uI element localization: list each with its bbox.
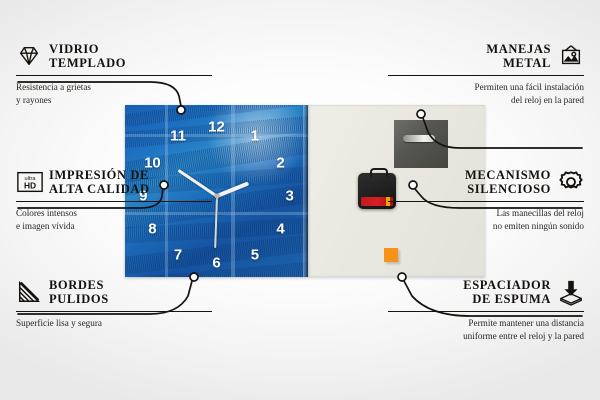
clock-number: 1 <box>251 128 259 143</box>
divider <box>16 75 212 77</box>
title-line-2: METAL <box>388 56 551 70</box>
gear-icon <box>558 169 584 195</box>
divider <box>16 201 212 203</box>
desc-line-1: Colores intensos <box>16 207 212 219</box>
feature-description: Las manecillas del reloj no emiten ningú… <box>388 207 584 232</box>
title-line-2: DE ESPUMA <box>388 292 551 306</box>
desc-line-2: no emiten ningún sonido <box>388 220 584 232</box>
feature-title: VIDRIO TEMPLADO <box>49 42 126 71</box>
clock-number: 7 <box>174 247 182 262</box>
desc-line-1: Permiten una fácil instalación <box>388 81 584 93</box>
desc-line-2: e imagen vívida <box>16 220 212 232</box>
divider <box>388 75 584 77</box>
feature-hd-print: ultra HD IMPRESIÓN DE ALTA CALIDAD Color… <box>16 168 212 232</box>
divider <box>16 311 212 313</box>
clock-number: 6 <box>212 256 220 271</box>
desc-line-2: del reloj en la pared <box>388 94 584 106</box>
divider <box>388 311 584 313</box>
foam-spacer-block <box>384 248 398 262</box>
feature-description: Resistencia a grietas y rayones <box>16 81 212 106</box>
feature-description: Superficie lisa y segura <box>16 317 212 329</box>
title-line-1: ESPACIADOR <box>388 278 551 292</box>
title-line-1: MANEJAS <box>388 42 551 56</box>
feature-title: IMPRESIÓN DE ALTA CALIDAD <box>49 168 150 197</box>
arrow-down-pad-icon <box>558 279 584 305</box>
clock-center-pin <box>214 194 219 199</box>
desc-line-1: Resistencia a grietas <box>16 81 212 93</box>
feature-tempered-glass: VIDRIO TEMPLADO Resistencia a grietas y … <box>16 42 212 106</box>
picture-frame-icon <box>558 43 584 69</box>
infographic-canvas: 12 1 2 3 4 5 6 7 8 9 10 11 <box>0 0 600 400</box>
feature-title: ESPACIADOR DE ESPUMA <box>388 278 551 307</box>
feature-metal-handles: MANEJAS METAL Permiten una fácil instala… <box>388 42 584 106</box>
clock-number: 11 <box>170 128 186 143</box>
divider <box>388 201 584 203</box>
title-line-1: VIDRIO <box>49 42 126 56</box>
feature-polished-edges: BORDES PULIDOS Superficie lisa y segura <box>16 278 212 330</box>
clock-number: 2 <box>276 156 284 171</box>
svg-text:HD: HD <box>24 181 36 191</box>
title-line-2: TEMPLADO <box>49 56 126 70</box>
title-line-1: IMPRESIÓN DE <box>49 168 150 182</box>
desc-line-2: uniforme entre el reloj y la pared <box>388 330 584 342</box>
title-line-2: PULIDOS <box>49 292 109 306</box>
clock-number: 4 <box>276 221 284 236</box>
feature-title: MANEJAS METAL <box>388 42 551 71</box>
feature-title: MECANISMO SILENCIOSO <box>388 168 551 197</box>
desc-line-2: y rayones <box>16 94 212 106</box>
title-line-2: ALTA CALIDAD <box>49 182 150 196</box>
desc-line-1: Permite mantener una distancia <box>388 317 584 329</box>
feature-description: Permite mantener una distancia uniforme … <box>388 317 584 342</box>
title-line-2: SILENCIOSO <box>388 182 551 196</box>
feature-description: Colores intensos e imagen vívida <box>16 207 212 232</box>
desc-line-1: Superficie lisa y segura <box>16 317 212 329</box>
clock-number: 3 <box>286 189 294 204</box>
feature-description: Permiten una fácil instalación del reloj… <box>388 81 584 106</box>
diamond-icon <box>16 43 42 69</box>
feature-title: BORDES PULIDOS <box>49 278 109 307</box>
metal-hanger-plate <box>394 120 448 168</box>
desc-line-1: Las manecillas del reloj <box>388 207 584 219</box>
title-line-1: BORDES <box>49 278 109 292</box>
feature-silent-mechanism: MECANISMO SILENCIOSO Las manecillas del … <box>388 168 584 232</box>
title-line-1: MECANISMO <box>388 168 551 182</box>
clock-number: 12 <box>208 120 225 135</box>
diagonal-lines-icon <box>16 279 42 305</box>
feature-foam-spacer: ESPACIADOR DE ESPUMA Permite mantener un… <box>388 278 584 342</box>
clock-number: 5 <box>251 247 259 262</box>
ultra-hd-icon: ultra HD <box>16 169 42 195</box>
mechanism-hook <box>370 168 388 177</box>
